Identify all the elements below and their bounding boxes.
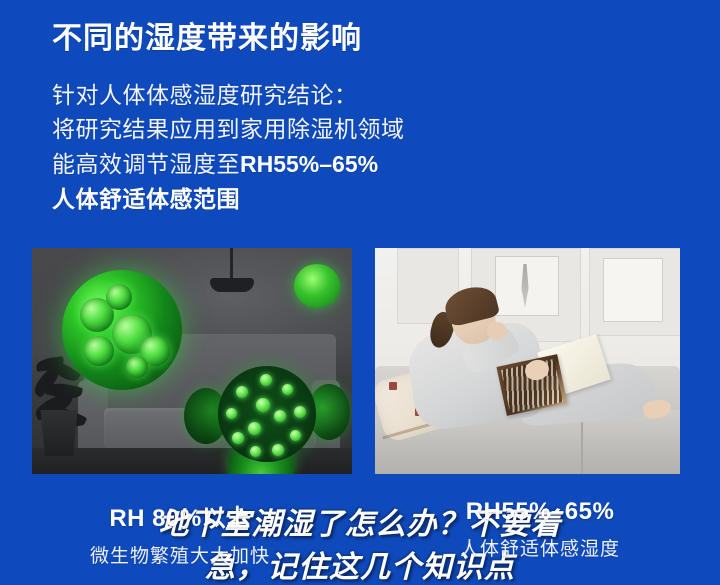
microbe-small-icon xyxy=(294,264,340,308)
body-line-2: 将研究结果应用到家用除湿机领域 xyxy=(52,112,672,147)
caption-right-title: RH55%–65% xyxy=(360,498,720,526)
header-body-lines: 针对人体体感湿度研究结论： 将研究结果应用到家用除湿机领域 能高效调节湿度至RH… xyxy=(52,78,672,218)
body-line-3-emphasis: RH55%–65% xyxy=(240,151,378,177)
body-line-1: 针对人体体感湿度研究结论： xyxy=(52,78,672,113)
caption-right: RH55%–65% 人体舒适体感湿度 xyxy=(360,498,720,578)
virus-spike xyxy=(282,384,293,395)
plant-pot xyxy=(38,410,80,456)
wall-art-frame xyxy=(603,258,663,322)
photo-left-damp-room xyxy=(32,248,352,474)
page-title: 不同的湿度带来的影响 xyxy=(52,20,672,58)
cushion-motif xyxy=(389,382,397,390)
virus-spike xyxy=(290,430,301,441)
virus-spike xyxy=(256,398,270,412)
virus-spike xyxy=(260,374,272,386)
humidity-infographic-poster: 不同的湿度带来的影响 针对人体体感湿度研究结论： 将研究结果应用到家用除湿机领域… xyxy=(0,0,720,585)
caption-left-title: RH 80%以上 xyxy=(0,498,360,533)
person-hand xyxy=(487,322,507,340)
virus-spike xyxy=(248,422,261,435)
microbe-blob xyxy=(84,336,114,366)
body-line-3: 能高效调节湿度至RH55%–65% xyxy=(52,147,672,182)
header-block: 不同的湿度带来的影响 针对人体体感湿度研究结论： 将研究结果应用到家用除湿机领域… xyxy=(52,20,672,217)
bright-room-scene xyxy=(375,248,680,474)
virus-spike xyxy=(274,410,286,422)
caption-left: RH 80%以上 微生物繁殖大大加快 xyxy=(0,498,360,578)
lamp-shade xyxy=(210,278,254,292)
virus-spike xyxy=(232,432,244,444)
virus-spike xyxy=(236,386,248,398)
body-line-4: 人体舒适体感范围 xyxy=(52,182,672,217)
microbe-cluster-icon xyxy=(62,270,182,390)
microbe-blob xyxy=(126,356,148,378)
virus-spike xyxy=(250,446,261,457)
virus-main-icon xyxy=(218,366,316,462)
caption-left-subtitle: 微生物繁殖大大加快 xyxy=(0,541,360,568)
caption-right-subtitle: 人体舒适体感湿度 xyxy=(360,534,720,561)
caption-row: RH 80%以上 微生物繁殖大大加快 RH55%–65% 人体舒适体感湿度 xyxy=(0,498,720,578)
virus-spike xyxy=(272,444,284,456)
floor xyxy=(32,448,352,474)
photo-row: 地下室潮湿了怎么办？不要着 急，记住这几个知识点 xyxy=(0,248,720,474)
lamp-wire xyxy=(230,248,233,282)
body-line-3-prefix: 能高效调节湿度至 xyxy=(52,151,240,177)
virus-spike xyxy=(226,408,237,419)
dark-room-scene xyxy=(32,248,352,474)
virus-spike xyxy=(294,406,306,418)
microbe-blob xyxy=(106,284,132,310)
photo-right-comfort-room xyxy=(375,248,680,474)
